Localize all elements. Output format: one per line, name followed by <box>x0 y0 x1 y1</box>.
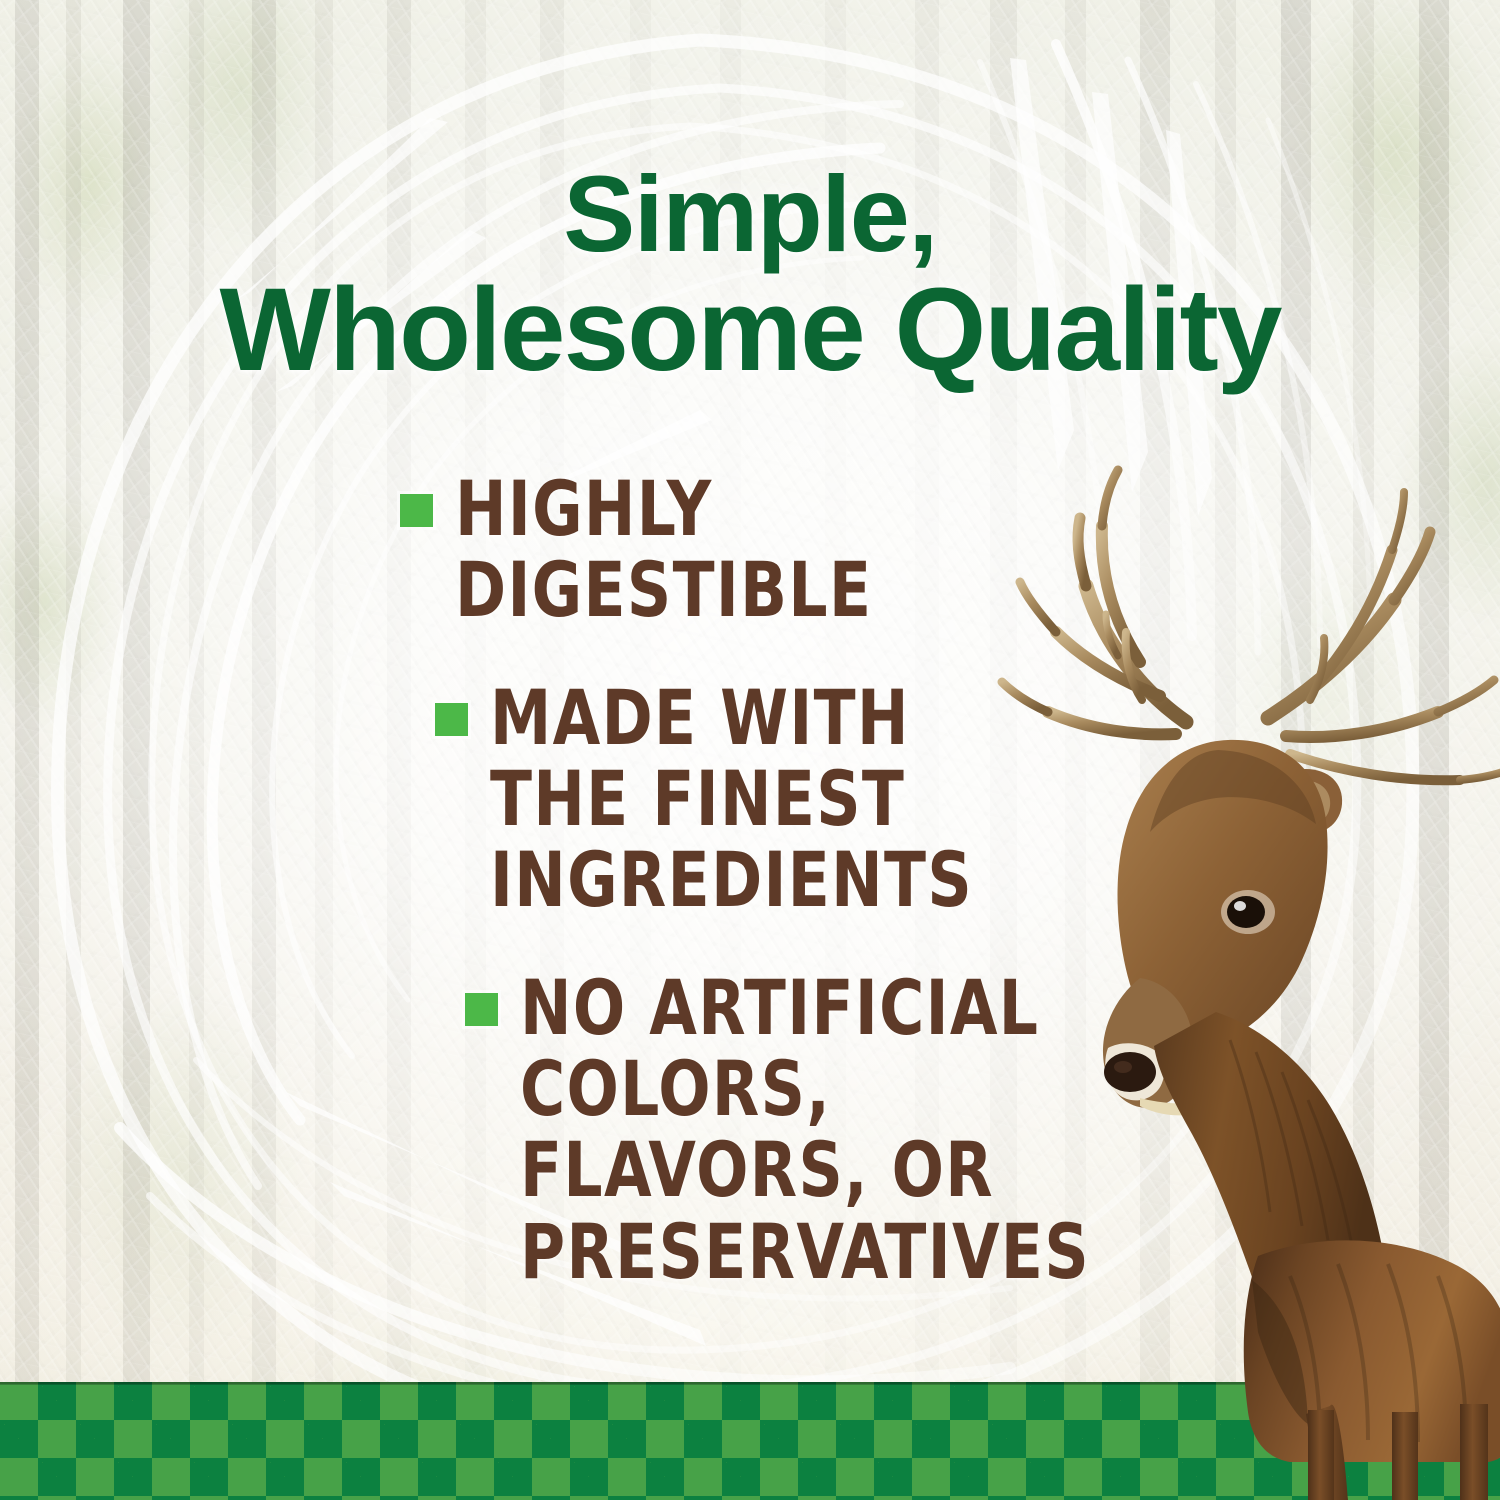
page-title: Simple, Wholesome Quality <box>0 158 1500 391</box>
headline-line-1: Simple, <box>0 158 1500 269</box>
list-item: HIGHLY DIGESTIBLE <box>0 468 1060 631</box>
bullet-label: MADE WITH THE FINEST INGREDIENTS <box>490 677 1003 921</box>
green-square-bullet-icon <box>435 703 468 736</box>
bullet-label: HIGHLY DIGESTIBLE <box>455 468 1000 631</box>
product-feature-poster: Simple, Wholesome Quality HIGHLY DIGESTI… <box>0 0 1500 1500</box>
checkerboard-footer-band <box>0 1382 1500 1500</box>
list-item: MADE WITH THE FINEST INGREDIENTS <box>0 677 1060 921</box>
green-square-bullet-icon <box>465 993 498 1026</box>
checkerboard-top-edge <box>0 1382 1500 1385</box>
bullet-label: NO ARTIFICIAL COLORS, FLAVORS, OR PRESER… <box>520 967 1078 1292</box>
headline-line-2: Wholesome Quality <box>0 270 1500 392</box>
feature-bullet-list: HIGHLY DIGESTIBLE MADE WITH THE FINEST I… <box>0 468 1060 1338</box>
green-square-bullet-icon <box>400 494 433 527</box>
list-item: NO ARTIFICIAL COLORS, FLAVORS, OR PRESER… <box>0 967 1060 1292</box>
